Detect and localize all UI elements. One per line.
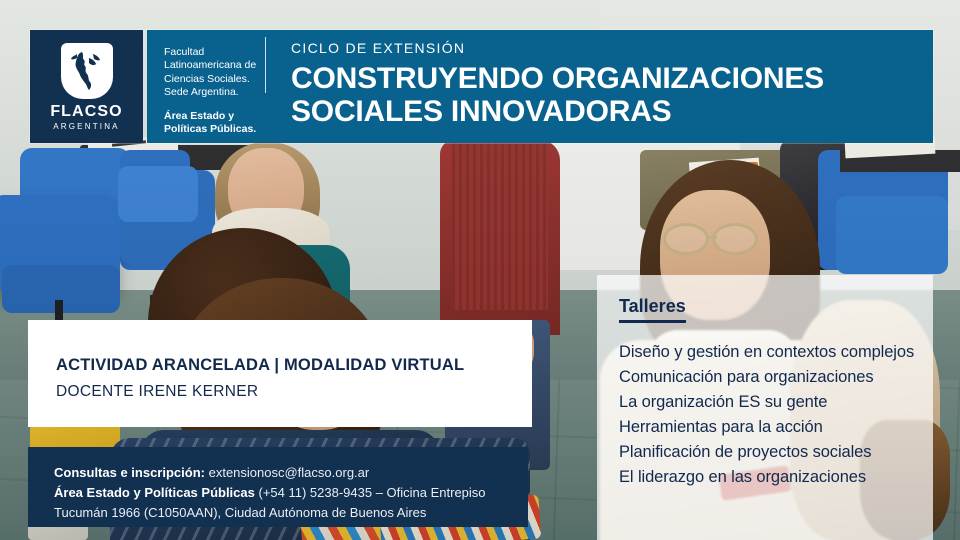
header-body: Facultad Latinoamericana de Ciencias Soc… (147, 30, 933, 143)
faculty-line-1: Facultad (164, 46, 265, 59)
contact-phone-office: (+54 11) 5238-9435 – Oficina Entrepiso (258, 485, 485, 500)
contact-label-consultas: Consultas e inscripción: (54, 465, 205, 480)
poster-canvas: FLACSO ARGENTINA Facultad Latinoamerican… (0, 0, 960, 540)
title-block: CICLO DE EXTENSIÓN CONSTRUYENDO ORGANIZA… (266, 30, 933, 143)
contact-address: Tucumán 1966 (C1050AAN), Ciudad Autónoma… (54, 503, 528, 523)
eyebrow-text: CICLO DE EXTENSIÓN (291, 40, 933, 57)
area-line-2: Políticas Públicas. (164, 123, 265, 136)
header-bar: FLACSO ARGENTINA Facultad Latinoamerican… (30, 30, 933, 143)
contact-line-area: Área Estado y Políticas Públicas (+54 11… (54, 483, 528, 503)
list-item: Herramientas para la acción (619, 415, 933, 440)
contact-line-consultas: Consultas e inscripción: extensionosc@fl… (54, 463, 528, 483)
contact-label-area: Área Estado y Políticas Públicas (54, 485, 255, 500)
logo-subword: ARGENTINA (53, 123, 119, 131)
list-item: La organización ES su gente (619, 390, 933, 415)
faculty-line-4: Sede Argentina. (164, 86, 265, 99)
americas-map-shield-icon (61, 43, 113, 99)
activity-modality: ACTIVIDAD ARANCELADA | MODALIDAD VIRTUAL (56, 356, 532, 376)
flacso-logo: FLACSO ARGENTINA (30, 30, 143, 143)
contact-email[interactable]: extensionosc@flacso.org.ar (209, 465, 370, 480)
talleres-list: Diseño y gestión en contextos complejos … (619, 340, 933, 490)
page-title-line-1: CONSTRUYENDO ORGANIZACIONES (291, 62, 933, 96)
faculty-block: Facultad Latinoamericana de Ciencias Soc… (147, 30, 265, 143)
list-item: Diseño y gestión en contextos complejos (619, 340, 933, 365)
talleres-heading: Talleres (619, 297, 686, 323)
faculty-line-3: Ciencias Sociales. (164, 73, 265, 86)
list-item: El liderazgo en las organizaciones (619, 465, 933, 490)
faculty-line-2: Latinoamericana de (164, 59, 265, 72)
list-item: Planificación de proyectos sociales (619, 440, 933, 465)
list-item: Comunicación para organizaciones (619, 365, 933, 390)
area-line-1: Área Estado y (164, 110, 265, 123)
talleres-panel: Talleres Diseño y gestión en contextos c… (597, 275, 933, 540)
activity-teacher: DOCENTE IRENE KERNER (56, 383, 532, 402)
activity-info-panel: ACTIVIDAD ARANCELADA | MODALIDAD VIRTUAL… (28, 320, 532, 427)
contact-block: Consultas e inscripción: extensionosc@fl… (28, 447, 528, 527)
logo-wordmark: FLACSO (50, 104, 122, 120)
page-title-line-2: SOCIALES INNOVADORAS (291, 95, 933, 129)
